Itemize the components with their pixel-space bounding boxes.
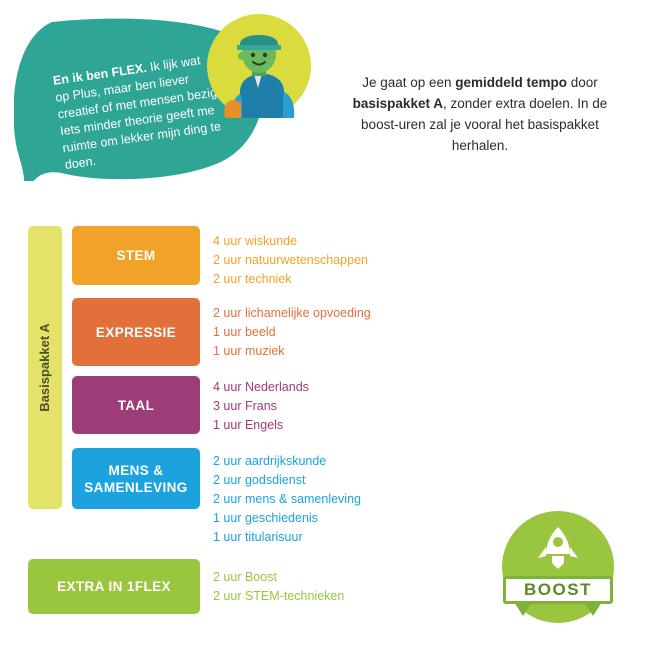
row-subject-item: 1 uur titularisuur [213, 528, 361, 547]
boost-ribbon-tail-left [514, 602, 532, 616]
intro-bold-2: basispakket A [353, 96, 443, 111]
row-subject-item: 1 uur beeld [213, 323, 371, 342]
row-subject-item: 2 uur STEM-technieken [213, 587, 344, 606]
boost-ribbon-label: BOOST [503, 576, 613, 604]
infographic-page: En ik ben FLEX. Ik lijk wat op Plus, maa… [0, 0, 650, 650]
row-label-block: TAAL [72, 376, 200, 434]
row-subject-item: 1 uur geschiedenis [213, 509, 361, 528]
row-subject-item: 2 uur Boost [213, 568, 344, 587]
curriculum-row: MENS & SAMENLEVING2 uur aardrijkskunde2 … [0, 448, 650, 509]
rocket-icon [532, 525, 584, 575]
row-subject-item: 2 uur natuurwetenschappen [213, 251, 368, 270]
intro-paragraph: Je gaat op een gemiddeld tempo door basi… [334, 72, 626, 156]
row-subject-list: 2 uur lichamelijke opvoeding1 uur beeld1… [213, 304, 371, 361]
row-label-block: MENS & SAMENLEVING [72, 448, 200, 509]
boost-ribbon-tail-right [584, 602, 602, 616]
curriculum-row: EXPRESSIE2 uur lichamelijke opvoeding1 u… [0, 298, 650, 366]
row-subject-item: 4 uur Nederlands [213, 378, 309, 397]
row-subject-item: 3 uur Frans [213, 397, 309, 416]
intro-part-2: door [567, 75, 598, 90]
intro-bold-1: gemiddeld tempo [455, 75, 567, 90]
row-subject-list: 4 uur wiskunde2 uur natuurwetenschappen2… [213, 232, 368, 289]
avatar-illustration [207, 14, 311, 118]
row-label-block: EXPRESSIE [72, 298, 200, 366]
row-subject-item: 1 uur muziek [213, 342, 371, 361]
avatar [207, 14, 311, 118]
curriculum-row: STEM4 uur wiskunde2 uur natuurwetenschap… [0, 226, 650, 285]
row-subject-item: 1 uur Engels [213, 416, 309, 435]
hero-section: En ik ben FLEX. Ik lijk wat op Plus, maa… [0, 0, 650, 200]
row-subject-item: 2 uur lichamelijke opvoeding [213, 304, 371, 323]
boost-badge: BOOST [502, 511, 614, 623]
row-subject-item: 2 uur mens & samenleving [213, 490, 361, 509]
intro-part-1: Je gaat op een [362, 75, 455, 90]
row-subject-list: 2 uur aardrijkskunde2 uur godsdienst2 uu… [213, 452, 361, 547]
row-subject-item: 2 uur aardrijkskunde [213, 452, 361, 471]
row-subject-list: 2 uur Boost2 uur STEM-technieken [213, 568, 344, 606]
curriculum-row: TAAL4 uur Nederlands3 uur Frans1 uur Eng… [0, 376, 650, 434]
row-subject-item: 4 uur wiskunde [213, 232, 368, 251]
row-subject-item: 2 uur techniek [213, 270, 368, 289]
row-label-block: STEM [72, 226, 200, 285]
row-subject-list: 4 uur Nederlands3 uur Frans1 uur Engels [213, 378, 309, 435]
row-label-block: EXTRA IN 1FLEX [28, 559, 200, 614]
row-subject-item: 2 uur godsdienst [213, 471, 361, 490]
